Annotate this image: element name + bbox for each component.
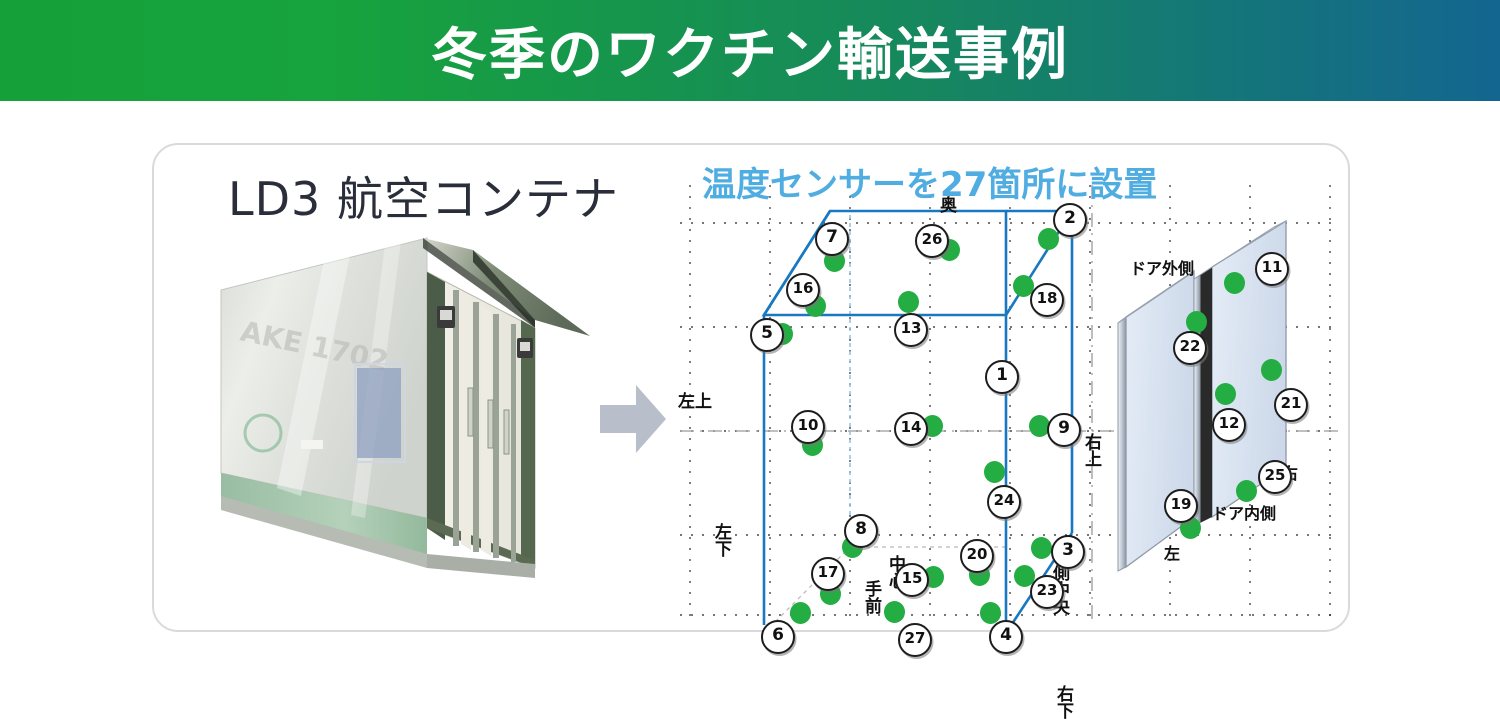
sensor-number-7: 7 [815, 222, 849, 256]
sensor-number-2: 2 [1053, 203, 1087, 237]
axis-label-front: 手前 [862, 580, 879, 614]
sensor-number-6: 6 [761, 620, 795, 654]
sensor-dot-22 [1186, 311, 1207, 333]
axis-label-bottom-left: 左下 [712, 523, 729, 557]
sensor-number-19: 19 [1164, 489, 1198, 523]
sensor-number-5: 5 [750, 318, 784, 352]
sensor-dot-24 [984, 461, 1005, 483]
container-type-title: LD3 航空コンテナ [228, 163, 628, 223]
right-arrow-svg [600, 383, 666, 455]
page-title: 冬季のワクチン輸送事例 [0, 0, 1500, 101]
sensor-dot-6 [790, 602, 811, 624]
sensor-number-14: 14 [894, 412, 928, 446]
sensor-layout-diagram: 温度センサーを27箇所に設置 奥手前左上左下右上右側中央右下中心 ドア外側ドア内… [672, 155, 1344, 625]
right-arrow-icon [600, 383, 666, 455]
sensor-number-9: 9 [1047, 413, 1081, 447]
axis-label-top-left: 左上 [678, 393, 712, 411]
axis-label-back: 奥 [940, 197, 957, 215]
sensor-number-20: 20 [960, 539, 994, 573]
sensor-number-1: 1 [985, 360, 1019, 394]
label-door-left: 左 [1164, 540, 1180, 564]
sensor-number-12: 12 [1212, 408, 1246, 442]
sensor-number-27: 27 [898, 623, 932, 657]
sensor-number-3: 3 [1051, 535, 1085, 569]
page-header: 冬季のワクチン輸送事例 [0, 0, 1500, 101]
label-door-inside: ドア内側 [1212, 500, 1276, 524]
sensor-number-22: 22 [1173, 331, 1207, 365]
sensor-dot-12 [1215, 383, 1236, 405]
sensor-number-13: 13 [894, 313, 928, 347]
sensor-heading: 温度センサーを27箇所に設置 [702, 157, 1322, 206]
sensor-number-4: 4 [989, 620, 1023, 654]
axis-label-bottom-right: 右下 [1054, 685, 1071, 719]
container-photo-svg: AKE 1702 [205, 228, 590, 593]
axis-label-top-right: 右上 [1082, 433, 1099, 467]
sensor-dot-11 [1224, 272, 1245, 294]
sensor-dot-27 [884, 601, 905, 623]
sensor-dot-2 [1038, 228, 1059, 250]
sensor-number-18: 18 [1030, 283, 1064, 317]
sensor-number-25: 25 [1258, 460, 1292, 494]
sensor-dot-13 [898, 291, 919, 313]
sensor-number-11: 11 [1255, 252, 1289, 286]
sensor-dot-25 [1236, 480, 1257, 502]
sensor-number-16: 16 [786, 273, 820, 307]
sensor-number-10: 10 [791, 410, 825, 444]
sensor-number-21: 21 [1274, 388, 1308, 422]
sensor-number-8: 8 [844, 514, 878, 548]
sensor-number-26: 26 [915, 224, 949, 258]
ld3-container-photo: AKE 1702 [205, 228, 590, 593]
sensor-number-17: 17 [811, 557, 845, 591]
sensor-number-15: 15 [895, 563, 929, 597]
label-door-outside: ドア外側 [1130, 255, 1194, 279]
sensor-number-24: 24 [987, 485, 1021, 519]
sensor-dot-21 [1261, 359, 1282, 381]
sensor-dot-3 [1031, 537, 1052, 559]
sensor-number-23: 23 [1030, 575, 1064, 609]
